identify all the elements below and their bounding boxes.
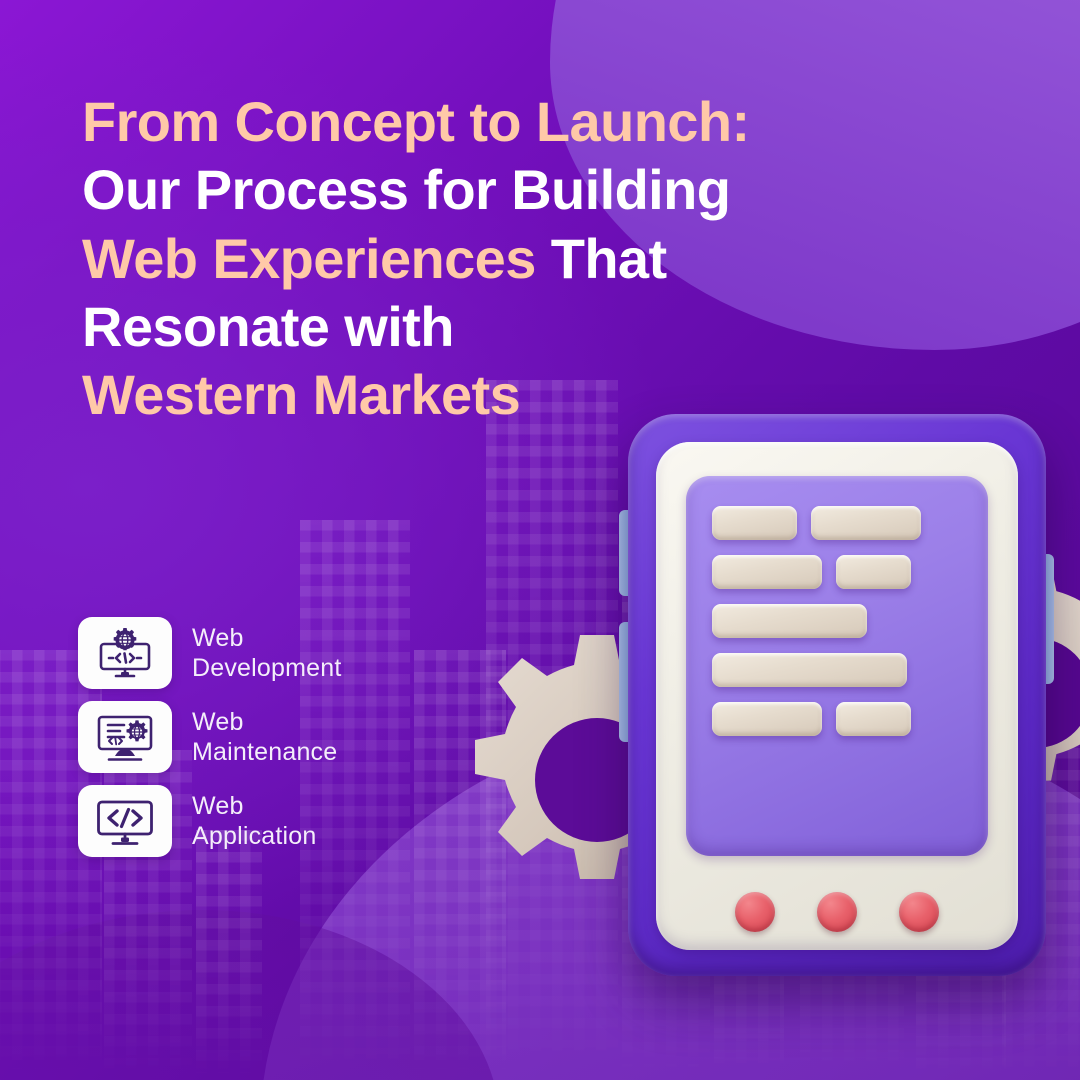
feature-list: Web Development	[78, 617, 342, 857]
screen-bar-row	[712, 653, 962, 687]
screen-bar	[836, 555, 911, 589]
monitor-code-icon	[96, 796, 154, 846]
tablet-illustration	[628, 414, 1046, 976]
tablet-home-buttons	[628, 892, 1046, 932]
feature-icon-card	[78, 785, 172, 857]
feature-item-web-maintenance[interactable]: Web Maintenance	[78, 701, 342, 773]
headline-line-2: Our Process for Building	[82, 156, 872, 224]
feature-label: Web Application	[192, 791, 317, 852]
screen-bar	[836, 702, 911, 736]
monitor-gear-globe-code-icon	[96, 628, 154, 678]
headline-line-4: Resonate with	[82, 293, 872, 361]
headline-line-3-plain: That	[536, 227, 667, 290]
poster-canvas: From Concept to Launch: Our Process for …	[0, 0, 1080, 1080]
screen-bar-row	[712, 702, 962, 736]
headline-line-1: From Concept to Launch:	[82, 88, 872, 156]
feature-label: Web Development	[192, 623, 342, 684]
screen-bar-row	[712, 604, 962, 638]
home-button[interactable]	[899, 892, 939, 932]
feature-item-web-application[interactable]: Web Application	[78, 785, 342, 857]
feature-label: Web Maintenance	[192, 707, 337, 768]
screen-bar-row	[712, 555, 962, 589]
tablet-screen[interactable]	[686, 476, 988, 856]
screen-bar	[712, 702, 822, 736]
feature-icon-card	[78, 701, 172, 773]
screen-bar	[712, 604, 867, 638]
screen-bar	[712, 506, 797, 540]
home-button[interactable]	[817, 892, 857, 932]
headline-line-5: Western Markets	[82, 361, 872, 429]
home-button[interactable]	[735, 892, 775, 932]
screen-bar	[811, 506, 921, 540]
headline-line-3: Web Experiences That	[82, 225, 872, 293]
feature-icon-card	[78, 617, 172, 689]
screen-bar	[712, 653, 907, 687]
feature-item-web-development[interactable]: Web Development	[78, 617, 342, 689]
monitor-code-lines-gear-icon	[96, 712, 154, 762]
screen-bar-row	[712, 506, 962, 540]
screen-bar	[712, 555, 822, 589]
headline-line-3-accent: Web Experiences	[82, 227, 536, 290]
headline: From Concept to Launch: Our Process for …	[82, 88, 872, 430]
